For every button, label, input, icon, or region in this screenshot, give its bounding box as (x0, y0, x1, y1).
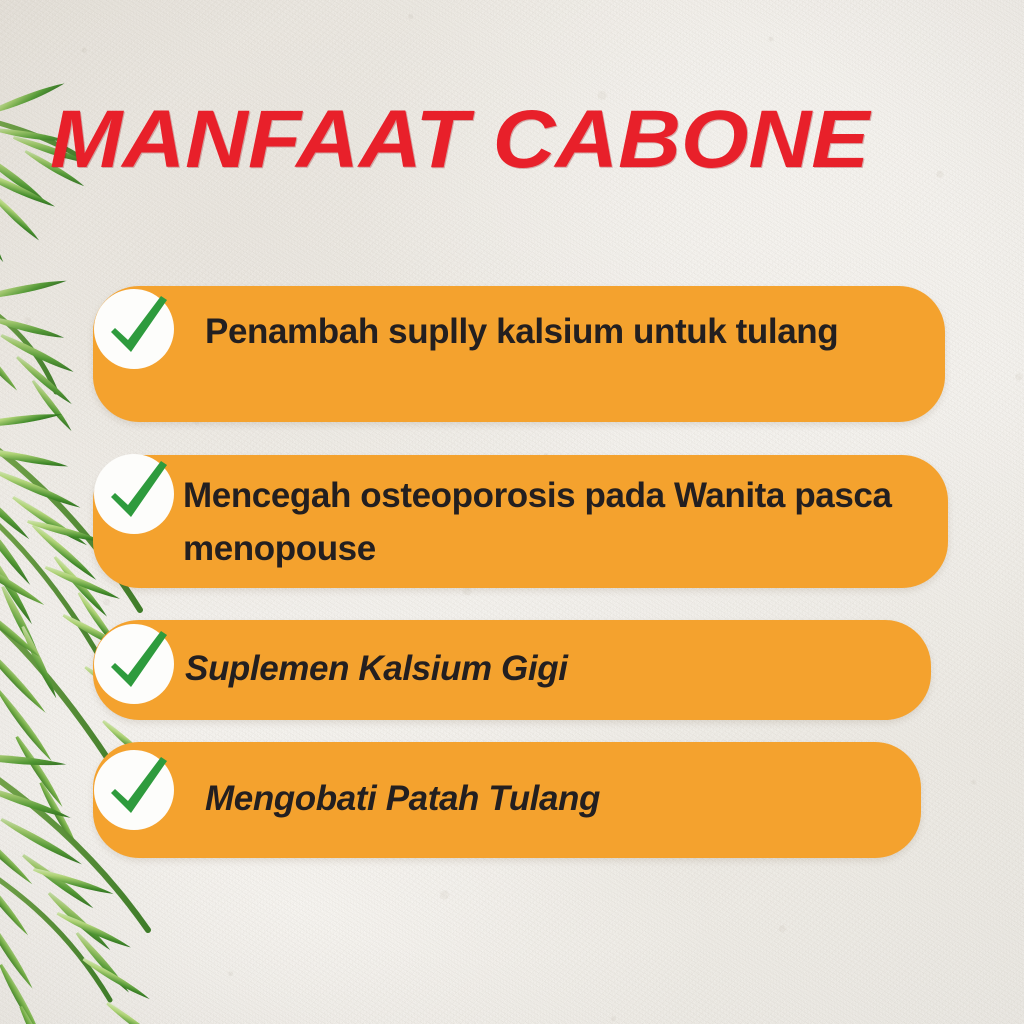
list-item[interactable]: Mengobati Patah Tulang (93, 742, 921, 858)
poster-canvas: MANFAAT CABONE Penambah suplly kalsium u… (0, 0, 1024, 1024)
check-icon (91, 747, 177, 833)
check-icon (91, 286, 177, 372)
list-item-label: Mencegah osteoporosis pada Wanita pasca … (183, 469, 924, 575)
list-item-label: Penambah suplly kalsium untuk tulang (205, 305, 921, 358)
list-item-label: Suplemen Kalsium Gigi (185, 642, 907, 695)
benefits-list: Penambah suplly kalsium untuk tulang Men… (0, 0, 1024, 1024)
check-icon (91, 451, 177, 537)
list-item[interactable]: Mencegah osteoporosis pada Wanita pasca … (93, 455, 948, 588)
check-icon (91, 621, 177, 707)
list-item-label: Mengobati Patah Tulang (205, 772, 897, 825)
list-item[interactable]: Suplemen Kalsium Gigi (93, 620, 931, 720)
list-item[interactable]: Penambah suplly kalsium untuk tulang (93, 286, 945, 422)
